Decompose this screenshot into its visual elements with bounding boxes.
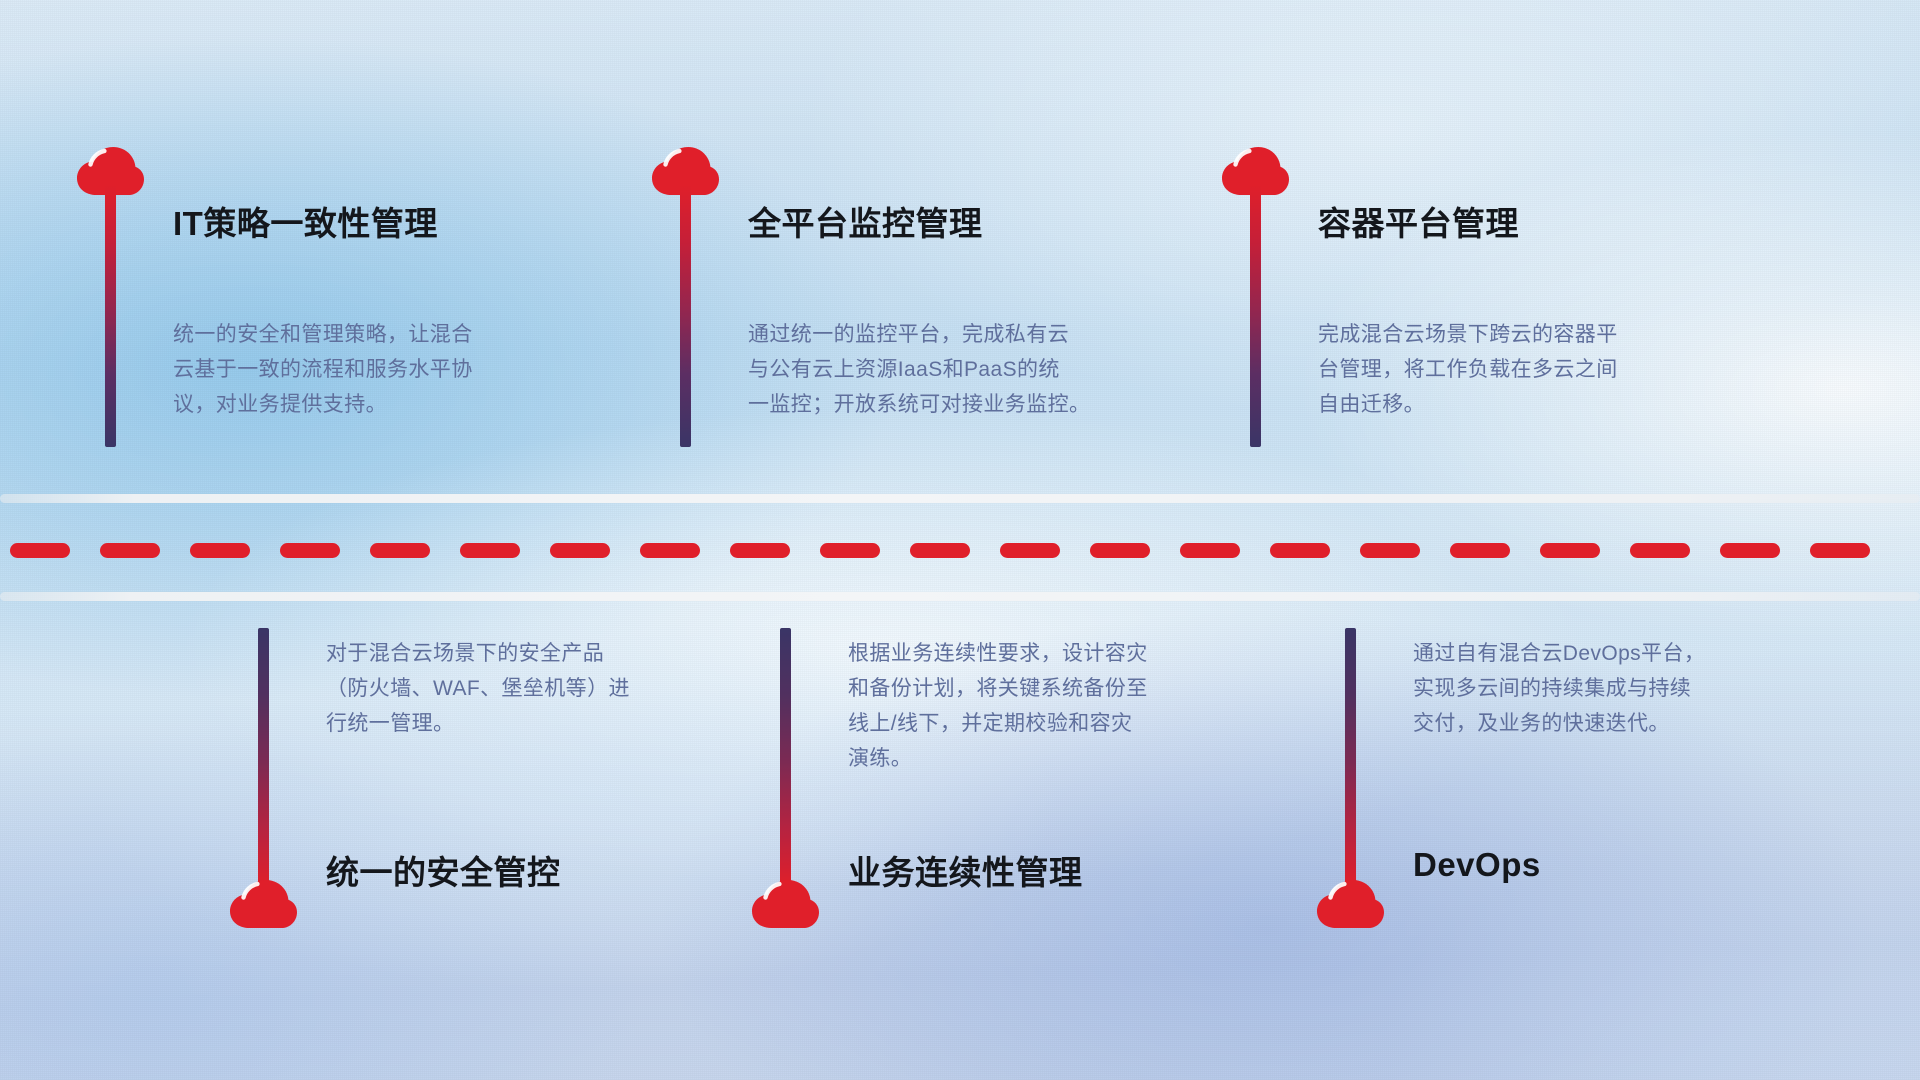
divider-dash: [1540, 543, 1600, 558]
description-line: 通过自有混合云DevOps平台，: [1413, 636, 1773, 671]
divider-dash: [1270, 543, 1330, 558]
divider-dash: [10, 543, 70, 558]
card-title: 业务连续性管理: [848, 846, 1083, 894]
divider-dash: [1630, 543, 1690, 558]
description-line: 根据业务连续性要求，设计容灾: [848, 636, 1208, 671]
divider-band: [0, 432, 1920, 552]
card-title: IT策略一致性管理: [173, 197, 438, 245]
divider-dash: [460, 543, 520, 558]
description-line: 完成混合云场景下跨云的容器平: [1318, 317, 1678, 352]
description-line: 行统一管理。: [326, 706, 686, 741]
divider-dash: [730, 543, 790, 558]
description-line: 通过统一的监控平台，完成私有云: [748, 317, 1108, 352]
divider-dash: [190, 543, 250, 558]
description-line: 一监控；开放系统可对接业务监控。: [748, 387, 1108, 422]
divider-dash: [370, 543, 430, 558]
divider-dash: [280, 543, 340, 558]
cloud-icon: [750, 878, 820, 930]
description-line: 议，对业务提供支持。: [173, 387, 533, 422]
connector-stalk: [1250, 185, 1261, 447]
description-line: 对于混合云场景下的安全产品: [326, 636, 686, 671]
description-line: 演练。: [848, 741, 1208, 776]
description-line: 台管理，将工作负载在多云之间: [1318, 352, 1678, 387]
divider-rule-top: [0, 494, 1920, 503]
connector-stalk: [105, 185, 116, 447]
description-line: 和备份计划，将关键系统备份至: [848, 671, 1208, 706]
divider-dash: [820, 543, 880, 558]
description-line: （防火墙、WAF、堡垒机等）进: [326, 671, 686, 706]
description-line: 统一的安全和管理策略，让混合: [173, 317, 533, 352]
connector-stalk: [780, 628, 791, 886]
divider-dash: [1810, 543, 1870, 558]
card-title: DevOps: [1413, 846, 1541, 884]
connector-stalk: [1345, 628, 1356, 886]
divider-dash: [1450, 543, 1510, 558]
divider-rule-bottom: [0, 592, 1920, 601]
divider-dash: [910, 543, 970, 558]
divider-dash: [1720, 543, 1780, 558]
card-description: 对于混合云场景下的安全产品 （防火墙、WAF、堡垒机等）进 行统一管理。: [326, 636, 686, 741]
card-description: 通过自有混合云DevOps平台， 实现多云间的持续集成与持续 交付，及业务的快速…: [1413, 636, 1773, 741]
divider-dash: [1000, 543, 1060, 558]
description-line: 云基于一致的流程和服务水平协: [173, 352, 533, 387]
card-description: 根据业务连续性要求，设计容灾 和备份计划，将关键系统备份至 线上/线下，并定期校…: [848, 636, 1208, 776]
divider-dashed-line: [0, 543, 1920, 558]
description-line: 与公有云上资源IaaS和PaaS的统: [748, 352, 1108, 387]
cloud-icon: [1315, 878, 1385, 930]
card-title: 统一的安全管控: [326, 846, 561, 894]
divider-dash: [1180, 543, 1240, 558]
card-title: 全平台监控管理: [748, 197, 983, 245]
divider-dash: [100, 543, 160, 558]
divider-dash: [1090, 543, 1150, 558]
divider-dash: [1360, 543, 1420, 558]
infographic-canvas: IT策略一致性管理 统一的安全和管理策略，让混合 云基于一致的流程和服务水平协 …: [0, 0, 1920, 1080]
card-title: 容器平台管理: [1318, 197, 1519, 245]
divider-dash: [640, 543, 700, 558]
connector-stalk: [258, 628, 269, 886]
card-description: 通过统一的监控平台，完成私有云 与公有云上资源IaaS和PaaS的统 一监控；开…: [748, 317, 1108, 422]
description-line: 实现多云间的持续集成与持续: [1413, 671, 1773, 706]
divider-dash: [550, 543, 610, 558]
description-line: 线上/线下，并定期校验和容灾: [848, 706, 1208, 741]
connector-stalk: [680, 185, 691, 447]
card-description: 完成混合云场景下跨云的容器平 台管理，将工作负载在多云之间 自由迁移。: [1318, 317, 1678, 422]
description-line: 交付，及业务的快速迭代。: [1413, 706, 1773, 741]
card-description: 统一的安全和管理策略，让混合 云基于一致的流程和服务水平协 议，对业务提供支持。: [173, 317, 533, 422]
description-line: 自由迁移。: [1318, 387, 1678, 422]
cloud-icon: [228, 878, 298, 930]
